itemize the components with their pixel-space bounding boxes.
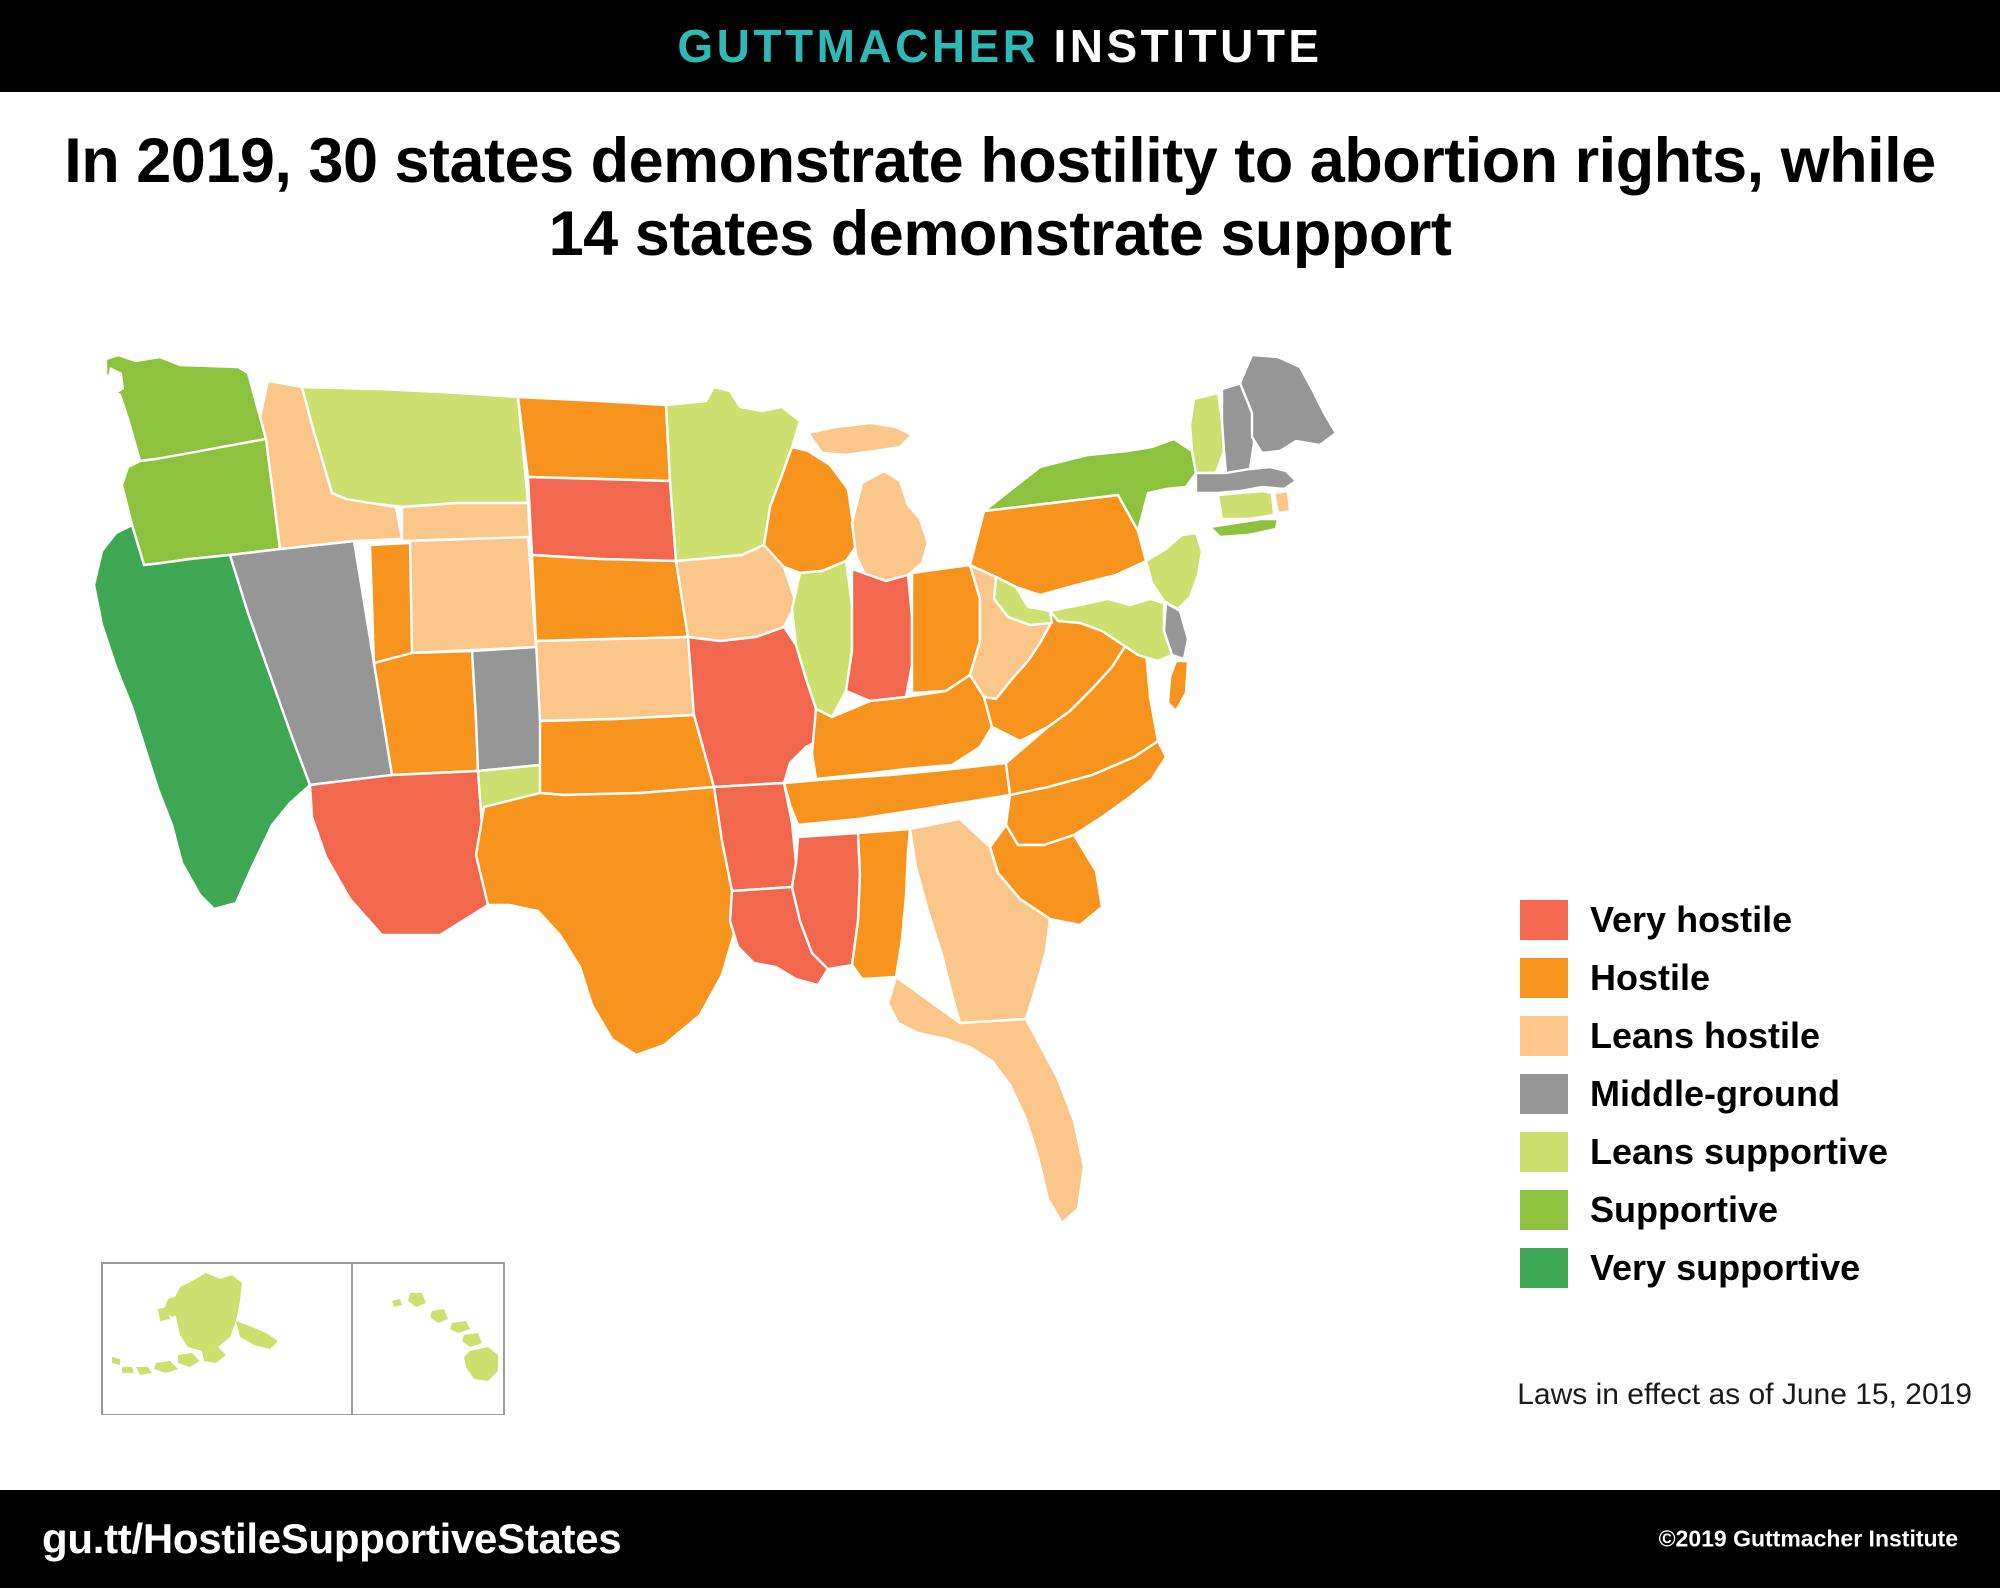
legend-label-very-hostile: Very hostile xyxy=(1590,902,1792,938)
source-note: Laws in effect as of June 15, 2019 xyxy=(1517,1378,1972,1412)
state-TX[interactable] xyxy=(476,787,740,1055)
state-VA-eastern-shore xyxy=(1168,661,1188,711)
brand-name-secondary: INSTITUTE xyxy=(1053,20,1322,72)
legend-item-leans-supportive[interactable]: Leans supportive xyxy=(1520,1130,1990,1174)
legend-swatch-supportive xyxy=(1520,1190,1568,1230)
alaska-inset xyxy=(112,1273,278,1375)
legend-item-supportive[interactable]: Supportive xyxy=(1520,1188,1990,1232)
state-UT[interactable] xyxy=(374,651,478,775)
legend-label-middle-ground: Middle-ground xyxy=(1590,1076,1840,1112)
legend-item-leans-hostile[interactable]: Leans hostile xyxy=(1520,1014,1990,1058)
legend-swatch-leans-supportive xyxy=(1520,1132,1568,1172)
state-KS[interactable] xyxy=(536,637,694,721)
state-SD[interactable] xyxy=(528,477,676,561)
hawaii-inset xyxy=(392,1293,498,1381)
state-AZ[interactable] xyxy=(310,771,488,935)
legend-label-very-supportive: Very supportive xyxy=(1590,1250,1860,1286)
state-MI-upper[interactable] xyxy=(808,423,912,455)
state-ME[interactable] xyxy=(1240,355,1336,453)
brand-header-bar: GUTTMACHERINSTITUTE xyxy=(0,0,2000,92)
state-CT[interactable] xyxy=(1218,491,1274,519)
legend-label-leans-hostile: Leans hostile xyxy=(1590,1018,1820,1054)
legend-swatch-very-hostile xyxy=(1520,900,1568,940)
page-title: In 2019, 30 states demonstrate hostility… xyxy=(0,125,2000,271)
legend-item-hostile[interactable]: Hostile xyxy=(1520,956,1990,1000)
map-legend: Very hostile Hostile Leans hostile Middl… xyxy=(1520,898,1990,1304)
legend-item-very-hostile[interactable]: Very hostile xyxy=(1520,898,1990,942)
state-WY[interactable] xyxy=(402,535,536,653)
brand-name-primary: GUTTMACHER xyxy=(677,20,1039,72)
legend-swatch-middle-ground xyxy=(1520,1074,1568,1114)
legend-swatch-very-supportive xyxy=(1520,1248,1568,1288)
legend-label-hostile: Hostile xyxy=(1590,960,1710,996)
state-VT[interactable] xyxy=(1190,393,1224,473)
state-NJ[interactable] xyxy=(1146,533,1202,609)
footer-bar: gu.tt/HostileSupportiveStates ©2019 Gutt… xyxy=(0,1490,2000,1588)
state-NY-long-island xyxy=(1210,519,1278,537)
footer-copyright: ©2019 Guttmacher Institute xyxy=(1659,1526,1958,1553)
footer-short-url[interactable]: gu.tt/HostileSupportiveStates xyxy=(42,1515,621,1563)
legend-item-very-supportive[interactable]: Very supportive xyxy=(1520,1246,1990,1290)
legend-item-middle-ground[interactable]: Middle-ground xyxy=(1520,1072,1990,1116)
state-ND[interactable] xyxy=(518,397,670,481)
legend-label-supportive: Supportive xyxy=(1590,1192,1778,1228)
state-WY-fill xyxy=(402,503,530,541)
state-AL[interactable] xyxy=(852,829,910,979)
legend-swatch-hostile xyxy=(1520,958,1568,998)
legend-label-leans-supportive: Leans supportive xyxy=(1590,1134,1888,1170)
state-UT-top xyxy=(370,543,412,663)
state-RI[interactable] xyxy=(1274,491,1290,513)
state-OK[interactable] xyxy=(540,715,714,795)
brand-wordmark: GUTTMACHERINSTITUTE xyxy=(677,23,1322,69)
state-MT[interactable] xyxy=(302,387,528,507)
us-choropleth-map xyxy=(40,355,1520,1415)
legend-swatch-leans-hostile xyxy=(1520,1016,1568,1056)
state-NE[interactable] xyxy=(532,555,688,641)
hawaii-inset-frame xyxy=(352,1263,504,1415)
state-IN[interactable] xyxy=(846,569,912,701)
state-MI[interactable] xyxy=(852,471,928,581)
